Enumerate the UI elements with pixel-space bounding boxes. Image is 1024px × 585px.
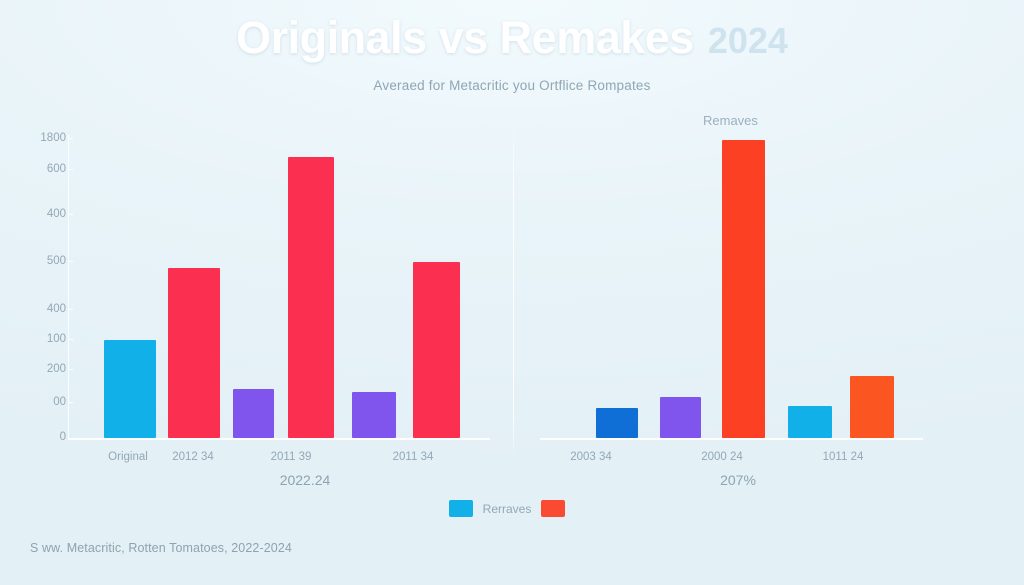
chart-figure: Originals vs Remakes 2024 Averaed for Me… bbox=[0, 0, 1024, 585]
x-axis-line bbox=[540, 438, 923, 440]
bar[interactable] bbox=[850, 376, 894, 438]
title-row: Originals vs Remakes 2024 bbox=[0, 12, 1024, 64]
page-title: Originals vs Remakes bbox=[236, 12, 694, 64]
bars-right bbox=[540, 135, 923, 438]
x-axis-title: 207% bbox=[658, 472, 818, 488]
y-tick-label: 500 bbox=[20, 256, 66, 268]
x-tick-label: 2012 34 bbox=[150, 452, 236, 464]
legend-label-originals: Rerraves bbox=[483, 502, 532, 516]
bar[interactable] bbox=[352, 392, 396, 438]
bar[interactable] bbox=[233, 389, 274, 438]
source-note: S ww. Metacritic, Rotten Tomatoes, 2022-… bbox=[30, 541, 292, 555]
x-axis-line bbox=[68, 438, 490, 440]
panels-container: 1800 600 400 500 400 100 200 00 0 bbox=[0, 100, 1024, 500]
chart-subtitle: Averaed for Metacritic you Ortflice Romp… bbox=[0, 78, 1024, 93]
y-tick-label: 100 bbox=[20, 334, 66, 346]
y-tick-label: 600 bbox=[20, 164, 66, 176]
x-tick-label: 2000 24 bbox=[679, 452, 765, 464]
y-tick-label: 400 bbox=[20, 209, 66, 221]
panel-right-title: Remaves bbox=[703, 113, 758, 128]
bar[interactable] bbox=[596, 408, 638, 438]
y-tick-label: 400 bbox=[20, 304, 66, 316]
y-tick-label: 00 bbox=[20, 397, 66, 409]
legend-swatch-remakes[interactable] bbox=[541, 500, 565, 517]
x-axis-title: 2022.24 bbox=[225, 472, 385, 488]
y-tick-label: 0 bbox=[20, 432, 66, 444]
x-tick-label: 2011 34 bbox=[370, 452, 456, 464]
chart-legend: Rerraves bbox=[0, 500, 1024, 517]
panel-left: 1800 600 400 500 400 100 200 00 0 bbox=[0, 100, 513, 500]
bar[interactable] bbox=[288, 157, 334, 438]
bar[interactable] bbox=[788, 406, 832, 438]
x-tick-label: 2003 34 bbox=[548, 452, 634, 464]
bar[interactable] bbox=[413, 262, 460, 438]
chart-header: Originals vs Remakes 2024 Averaed for Me… bbox=[0, 12, 1024, 93]
panel-right: Remaves 2003 34 2000 24 1011 24 207% bbox=[513, 100, 1024, 500]
bar[interactable] bbox=[722, 140, 765, 438]
x-tick-label: 1011 24 bbox=[800, 452, 886, 464]
bars-left bbox=[68, 135, 490, 438]
legend-swatch-originals[interactable] bbox=[449, 500, 473, 517]
y-tick-label: 200 bbox=[20, 364, 66, 376]
y-tick-label: 1800 bbox=[20, 133, 66, 145]
bar[interactable] bbox=[660, 397, 701, 438]
title-year: 2024 bbox=[708, 20, 788, 62]
x-tick-label: 2011 39 bbox=[248, 452, 334, 464]
bar[interactable] bbox=[168, 268, 220, 438]
bar[interactable] bbox=[104, 340, 156, 438]
